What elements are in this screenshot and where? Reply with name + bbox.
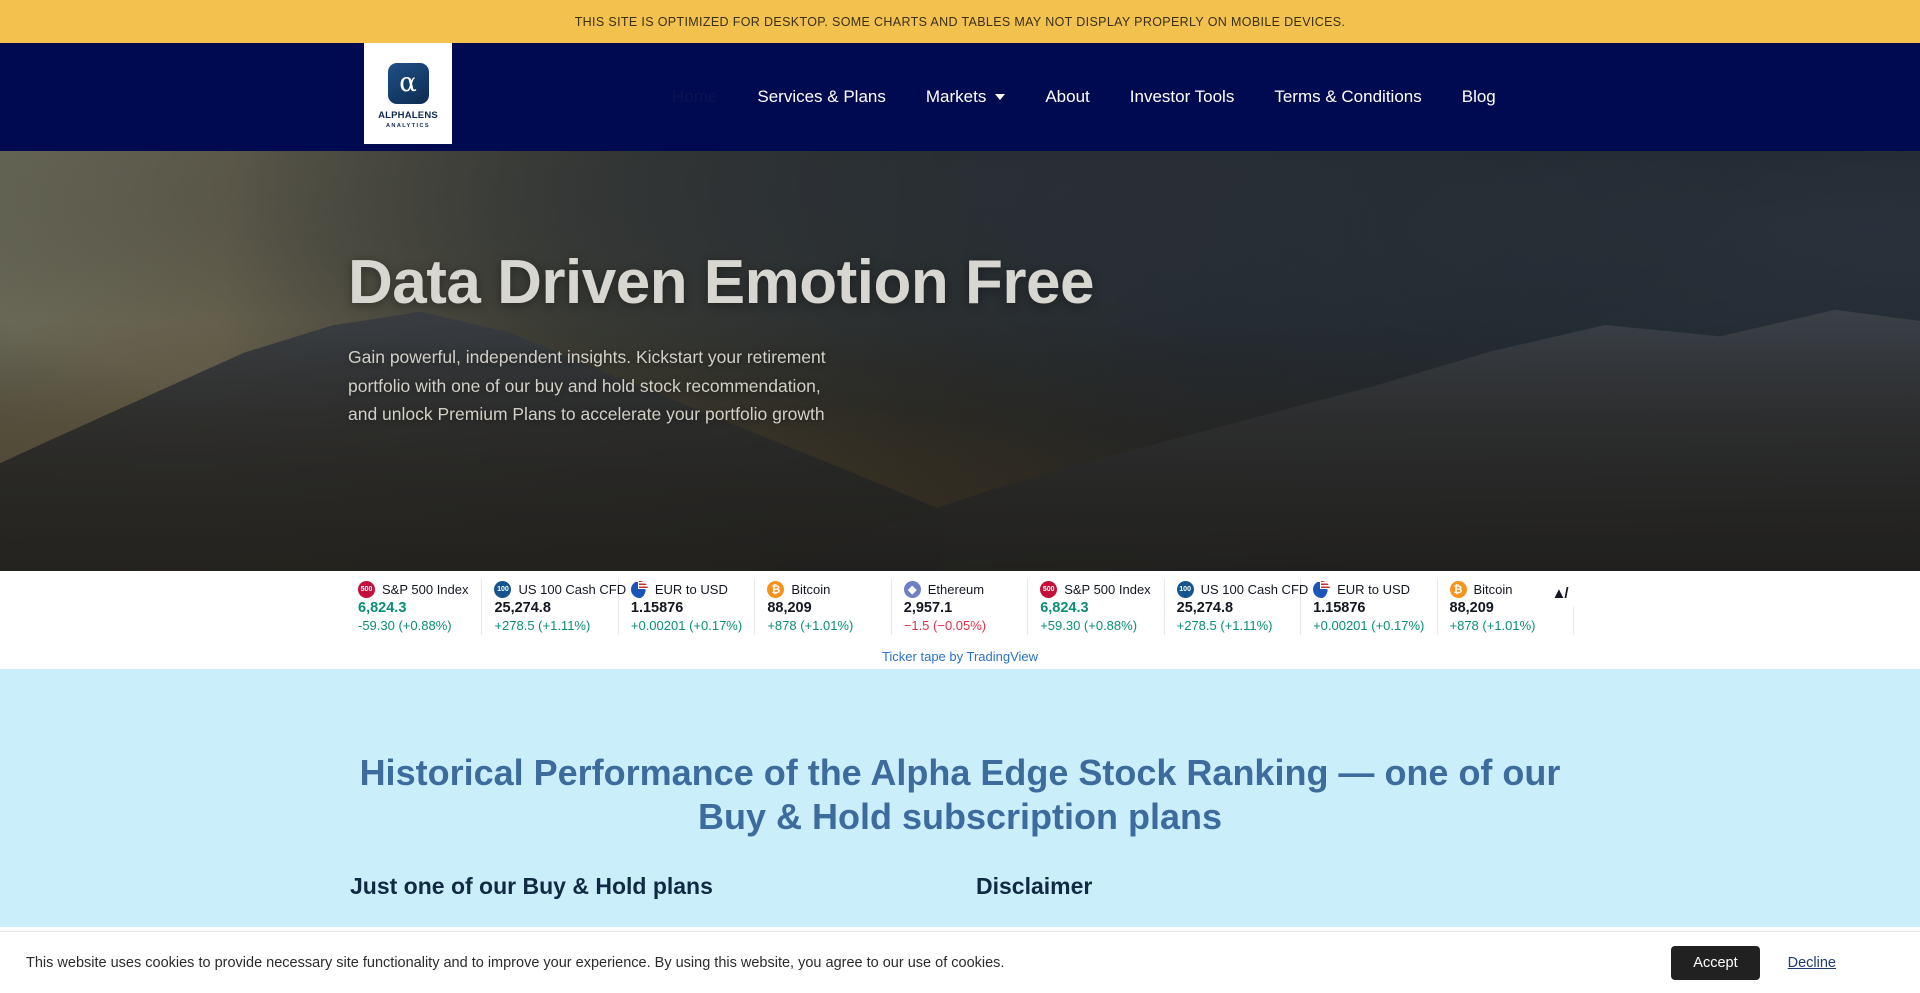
page-root: THIS SITE IS OPTIMIZED FOR DESKTOP. SOME… [0,0,1920,993]
ticker-item-price: 1.15876 [631,600,742,616]
ticker-item-head: 500S&P 500 Index [358,581,469,598]
hero-title: Data Driven Emotion Free [348,249,1920,317]
ticker-item-head: ₿Bitcoin [767,581,878,598]
ticker-item-head: 100US 100 Cash CFD [494,581,605,598]
ticker-item-name: EUR to USD [1337,582,1410,597]
nav-item-label: Home [672,87,717,107]
ticker-item[interactable]: 100US 100 Cash CFD25,274.8+278.5 (+1.11%… [482,579,618,635]
ticker-symbol-ndx-icon: 100 [1177,581,1194,598]
nav-item-blog[interactable]: Blog [1442,43,1516,151]
ticker-item-change: +0.00201 (+0.17%) [631,618,742,633]
ticker-item-change: +278.5 (+1.11%) [494,618,605,633]
ticker-item-price: 25,274.8 [1177,600,1288,616]
ticker-item-change: -59.30 (+0.88%) [358,618,469,633]
nav-item-home[interactable]: Home [652,43,737,151]
section-title: Historical Performance of the Alpha Edge… [350,751,1570,839]
ticker-item-change: +0.00201 (+0.17%) [1313,618,1424,633]
ticker-symbol-fx-icon [631,581,648,598]
ticker-item-head: EUR to USD [1313,581,1424,598]
ticker-item-name: US 100 Cash CFD [1201,582,1309,597]
ticker-symbol-spx-icon: 500 [1040,581,1057,598]
hero-banner: Data Driven Emotion Free Gain powerful, … [0,151,1920,571]
ticker-item-name: Bitcoin [1474,582,1513,597]
hero-subtitle: Gain powerful, independent insights. Kic… [348,343,848,428]
nav-item-markets[interactable]: Markets [906,43,1025,151]
column-plans: Just one of our Buy & Hold plans [350,873,944,900]
ticker-tape-section: 500S&P 500 Index6,824.3-59.30 (+0.88%)10… [0,571,1920,669]
ticker-item[interactable]: ₿Bitcoin88,209+878 (+1.01%) [755,579,891,635]
chevron-down-icon [995,94,1005,100]
nav-item-label: Terms & Conditions [1274,87,1421,107]
ticker-item-head: 100US 100 Cash CFD [1177,581,1288,598]
section-columns: Just one of our Buy & Hold plans Disclai… [350,873,1570,900]
nav-item-investor-tools[interactable]: Investor Tools [1110,43,1255,151]
ticker-item-head: ◆Ethereum [904,581,1015,598]
site-logo[interactable]: α ALPHALENS ANALYTICS [364,43,452,144]
nav-item-label: Blog [1462,87,1496,107]
ticker-symbol-fx-icon [1313,581,1330,598]
nav-item-terms-conditions[interactable]: Terms & Conditions [1254,43,1441,151]
nav-item-services-plans[interactable]: Services & Plans [737,43,906,151]
site-header: α ALPHALENS ANALYTICS HomeServices & Pla… [0,43,1920,151]
ticker-item-price: 2,957.1 [904,600,1015,616]
nav-item-about[interactable]: About [1025,43,1109,151]
nav-item-label: Investor Tools [1130,87,1235,107]
ticker-item-head: EUR to USD [631,581,742,598]
nav-item-label: Markets [926,87,986,107]
ticker-item-price: 25,274.8 [494,600,605,616]
ticker-credit-link[interactable]: Ticker tape by TradingView [882,649,1038,664]
ticker-item-price: 1.15876 [1313,600,1424,616]
desktop-optimized-notice: THIS SITE IS OPTIMIZED FOR DESKTOP. SOME… [0,0,1920,43]
ticker-item-name: Bitcoin [791,582,830,597]
notice-text: THIS SITE IS OPTIMIZED FOR DESKTOP. SOME… [575,15,1346,29]
ticker-tape[interactable]: 500S&P 500 Index6,824.3-59.30 (+0.88%)10… [346,579,1574,635]
ticker-item-name: US 100 Cash CFD [518,582,626,597]
ticker-symbol-eth-icon: ◆ [904,581,921,598]
primary-navigation: HomeServices & PlansMarketsAboutInvestor… [652,43,1516,151]
ticker-item-price: 6,824.3 [1040,600,1151,616]
column-disclaimer: Disclaimer [944,873,1570,900]
cookie-actions: Accept Decline [1671,946,1836,980]
column-disclaimer-title: Disclaimer [976,873,1570,900]
ticker-item-name: Ethereum [928,582,984,597]
nav-item-label: About [1045,87,1089,107]
cookie-text: This website uses cookies to provide nec… [26,955,1671,971]
ticker-symbol-spx-icon: 500 [358,581,375,598]
alpha-glyph-icon: α [388,63,429,104]
ticker-item-name: S&P 500 Index [382,582,469,597]
decline-cookies-button[interactable]: Decline [1788,955,1836,971]
ticker-item[interactable]: ◆Ethereum2,957.1−1.5 (−0.05%) [892,579,1028,635]
ticker-item[interactable]: EUR to USD1.15876+0.00201 (+0.17%) [619,579,755,635]
historical-performance-section: Historical Performance of the Alpha Edge… [0,669,1920,927]
ticker-item-change: +878 (+1.01%) [1450,618,1561,633]
ticker-symbol-ndx-icon: 100 [494,581,511,598]
ticker-symbol-btc-icon: ₿ [1450,581,1467,598]
ticker-item-name: EUR to USD [655,582,728,597]
ticker-item-name: S&P 500 Index [1064,582,1151,597]
tradingview-logo-icon[interactable]: ▲/ [1542,579,1576,607]
ticker-item-change: +278.5 (+1.11%) [1177,618,1288,633]
accept-cookies-button[interactable]: Accept [1671,946,1759,980]
ticker-item[interactable]: 500S&P 500 Index6,824.3+59.30 (+0.88%) [1028,579,1164,635]
ticker-item-price: 6,824.3 [358,600,469,616]
ticker-item[interactable]: 100US 100 Cash CFD25,274.8+278.5 (+1.11%… [1165,579,1301,635]
column-plans-title: Just one of our Buy & Hold plans [350,873,944,900]
ticker-item-price: 88,209 [767,600,878,616]
ticker-item[interactable]: EUR to USD1.15876+0.00201 (+0.17%) [1301,579,1437,635]
ticker-item-change: +878 (+1.01%) [767,618,878,633]
logo-subtitle: ANALYTICS [386,123,430,129]
cookie-consent-banner: This website uses cookies to provide nec… [0,931,1920,993]
ticker-item-change: −1.5 (−0.05%) [904,618,1015,633]
ticker-item-head: 500S&P 500 Index [1040,581,1151,598]
ticker-item[interactable]: 500S&P 500 Index6,824.3-59.30 (+0.88%) [346,579,482,635]
logo-name: ALPHALENS [378,110,438,121]
ticker-item-change: +59.30 (+0.88%) [1040,618,1151,633]
nav-item-label: Services & Plans [757,87,886,107]
ticker-symbol-btc-icon: ₿ [767,581,784,598]
